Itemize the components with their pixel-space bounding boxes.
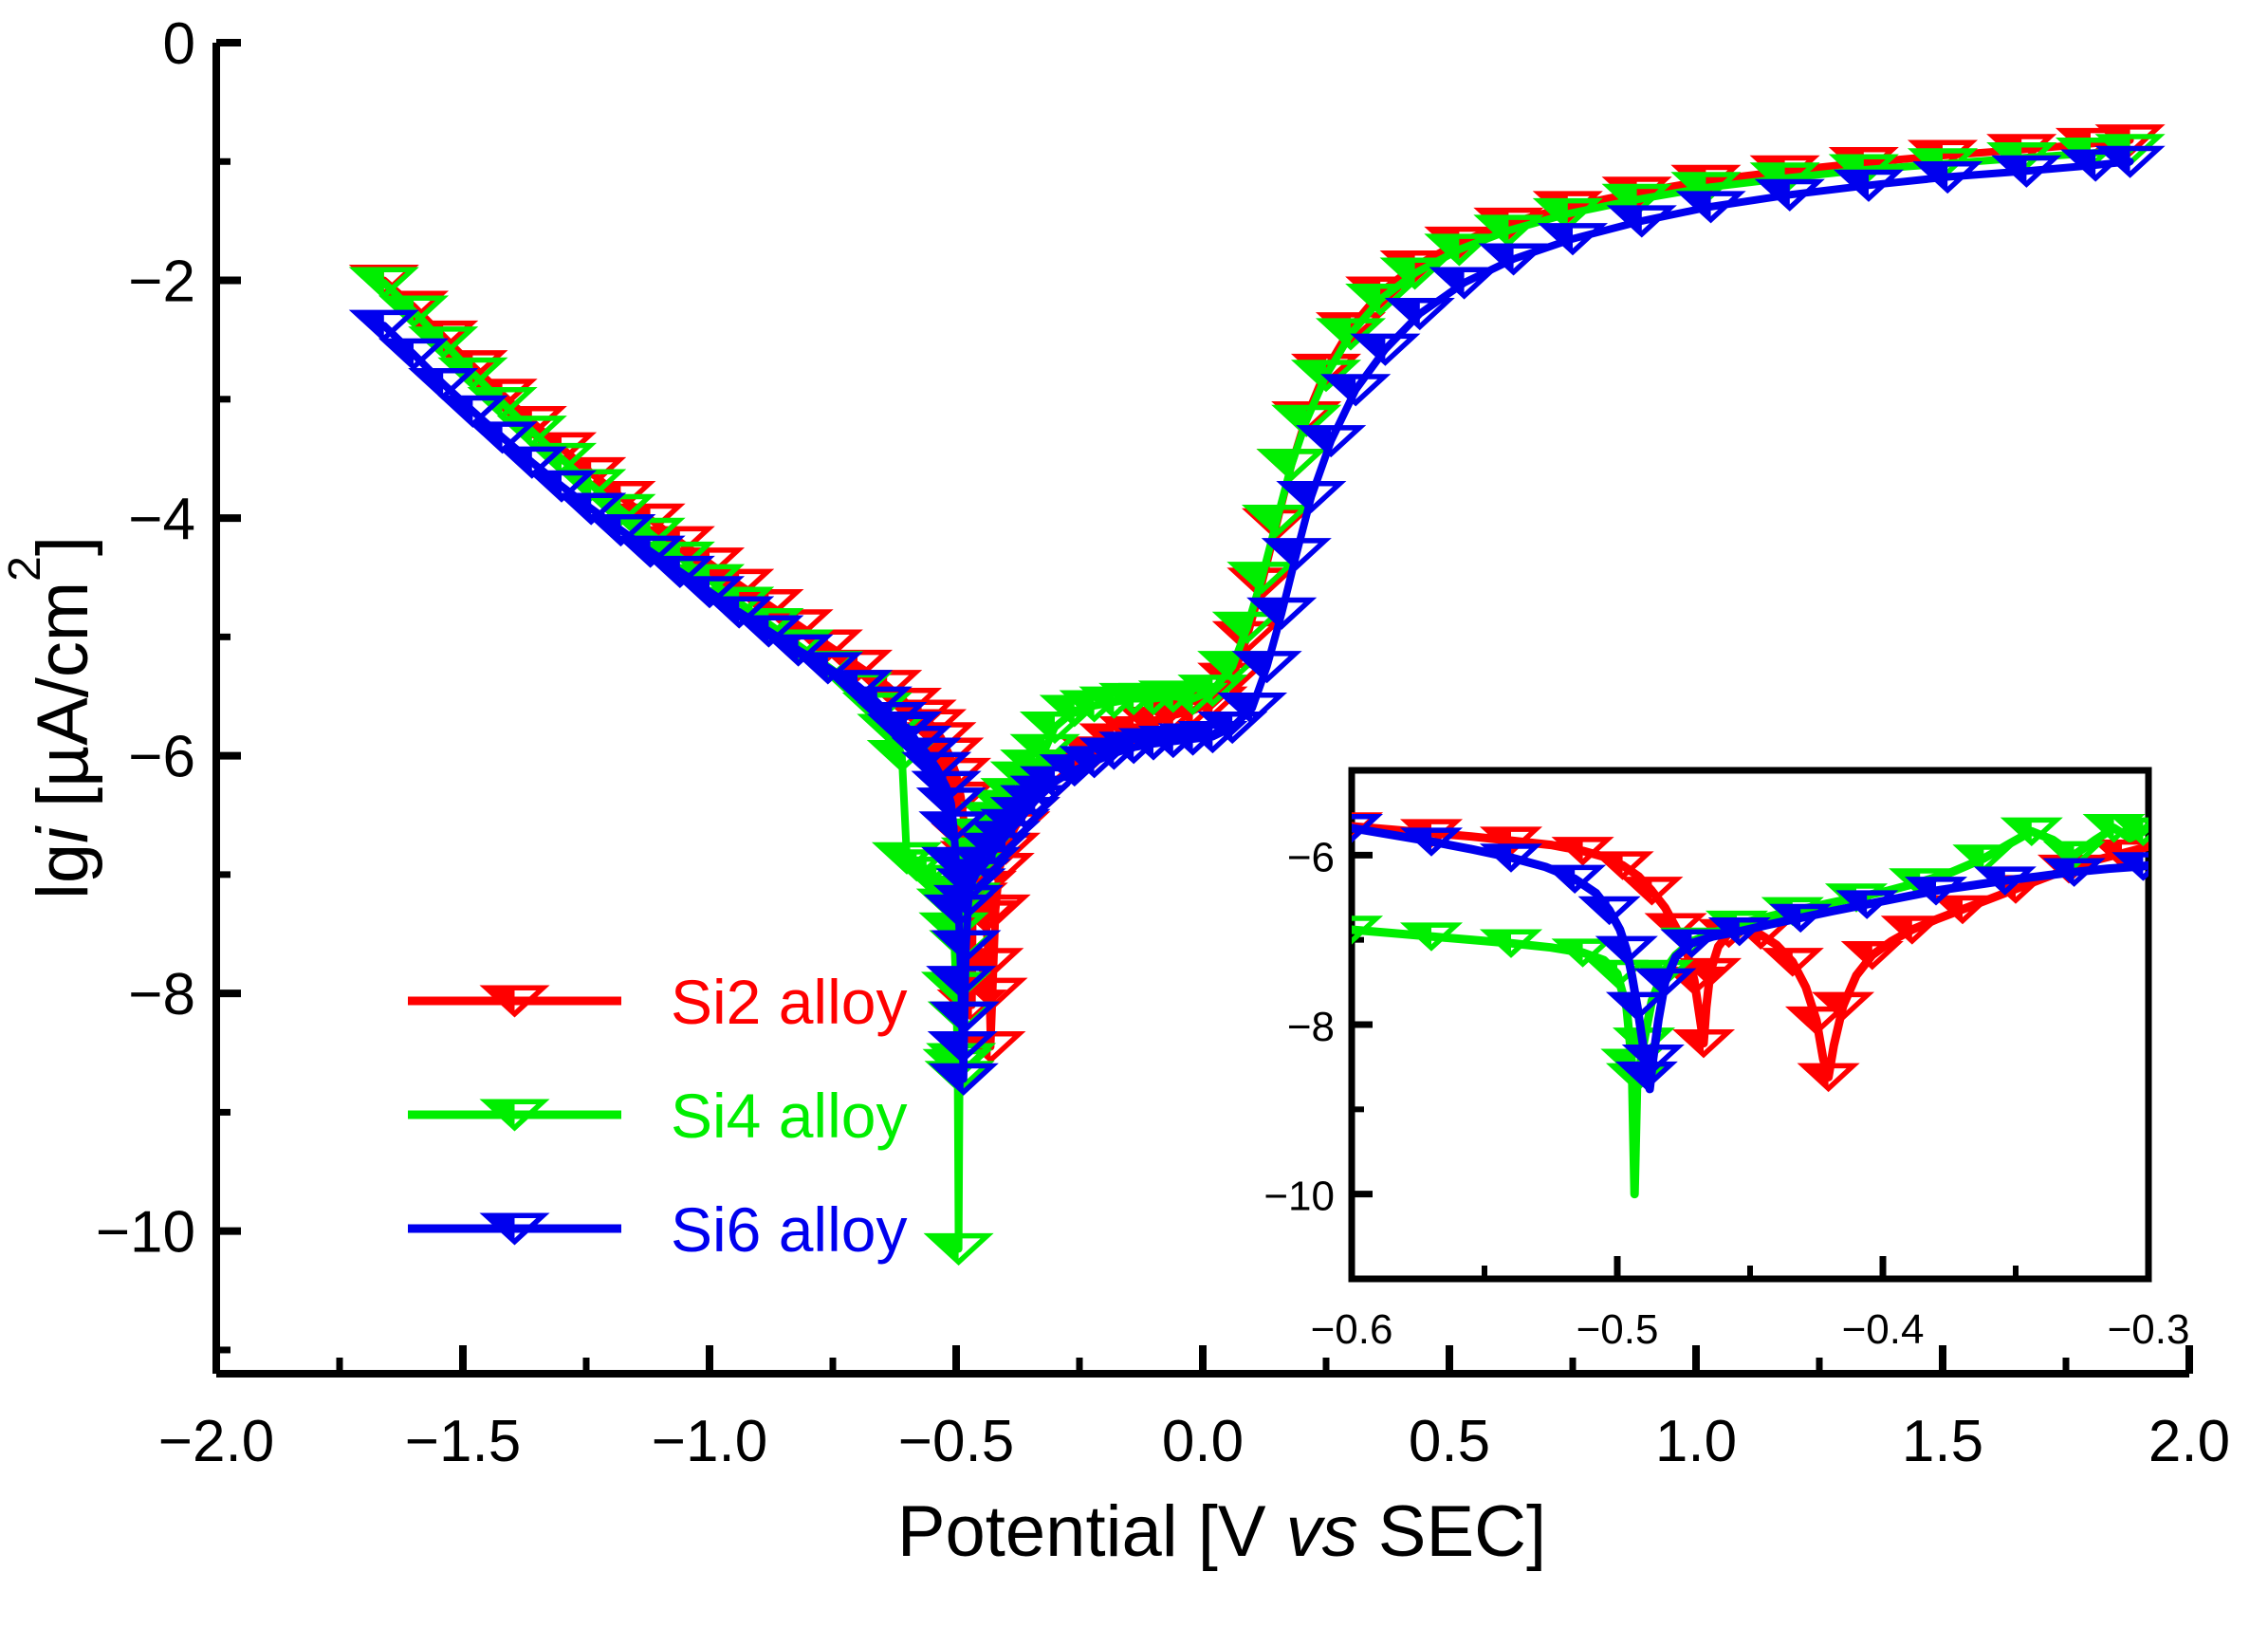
y-tick-label: −6 [128, 725, 195, 790]
polarization-curve-chart: 0−2−4−6−8−10−2.0−1.5−1.0−0.50.00.51.01.5… [0, 0, 2268, 1646]
x-axis-ticks: −2.0−1.5−1.0−0.50.00.51.01.52.0 [158, 1345, 2230, 1474]
x-tick-label: 1.0 [1655, 1409, 1737, 1474]
inset-y-tick-label: −10 [1263, 1174, 1335, 1220]
legend-item[interactable]: Si4 alloy [408, 1081, 907, 1151]
inset-marker-fill [1327, 918, 1352, 941]
y-title-unit: [µA/cm [23, 582, 103, 827]
x-title-post: SEC] [1358, 1491, 1547, 1572]
legend-item[interactable]: Si6 alloy [408, 1194, 907, 1265]
inset-chart: −6−8−10−0.6−0.5−0.4−0.3 [1263, 770, 2189, 1353]
chart-figure: 0−2−4−6−8−10−2.0−1.5−1.0−0.50.00.51.01.5… [0, 0, 2268, 1646]
inset-x-tick-label: −0.5 [1577, 1306, 1659, 1353]
x-tick-label: −1.0 [652, 1409, 767, 1474]
x-tick-label: −0.5 [898, 1409, 1014, 1474]
legend-label: Si4 alloy [671, 1081, 907, 1151]
x-tick-label: 2.0 [2148, 1409, 2230, 1474]
x-tick-label: 1.5 [1902, 1409, 1983, 1474]
x-tick-label: 0.0 [1162, 1409, 1244, 1474]
y-tick-label: −8 [128, 962, 195, 1027]
inset-x-tick-label: −0.6 [1311, 1306, 1393, 1353]
legend-item[interactable]: Si2 alloy [408, 967, 907, 1037]
x-axis-title: Potential [V vs SEC] [897, 1491, 1546, 1572]
legend-label: Si2 alloy [671, 967, 907, 1037]
x-title-pre: Potential [V [897, 1491, 1286, 1572]
x-title-italic: vs [1286, 1491, 1358, 1572]
inset-y-tick-label: −8 [1287, 1004, 1335, 1050]
inset-y-tick-label: −6 [1287, 834, 1335, 880]
x-tick-label: −1.5 [405, 1409, 521, 1474]
y-tick-label: 0 [163, 11, 195, 77]
inset-x-tick-label: −0.4 [1842, 1306, 1925, 1353]
y-tick-label: −10 [96, 1200, 195, 1266]
legend-label: Si6 alloy [671, 1194, 907, 1265]
inset-x-tick-label: −0.3 [2108, 1306, 2190, 1353]
y-axis-title-group: lgi [µA/cm2] [0, 536, 103, 899]
y-title-pre: lg [23, 843, 103, 899]
x-tick-label: −2.0 [158, 1409, 274, 1474]
x-tick-label: 0.5 [1409, 1409, 1490, 1474]
y-title-close: ] [23, 536, 103, 556]
legend: Si2 alloySi4 alloySi6 alloy [408, 967, 907, 1265]
y-title-superscript: 2 [0, 556, 50, 582]
y-tick-label: −4 [128, 487, 195, 552]
y-tick-label: −2 [128, 250, 195, 315]
y-axis-title: lgi [µA/cm2] [0, 536, 103, 899]
